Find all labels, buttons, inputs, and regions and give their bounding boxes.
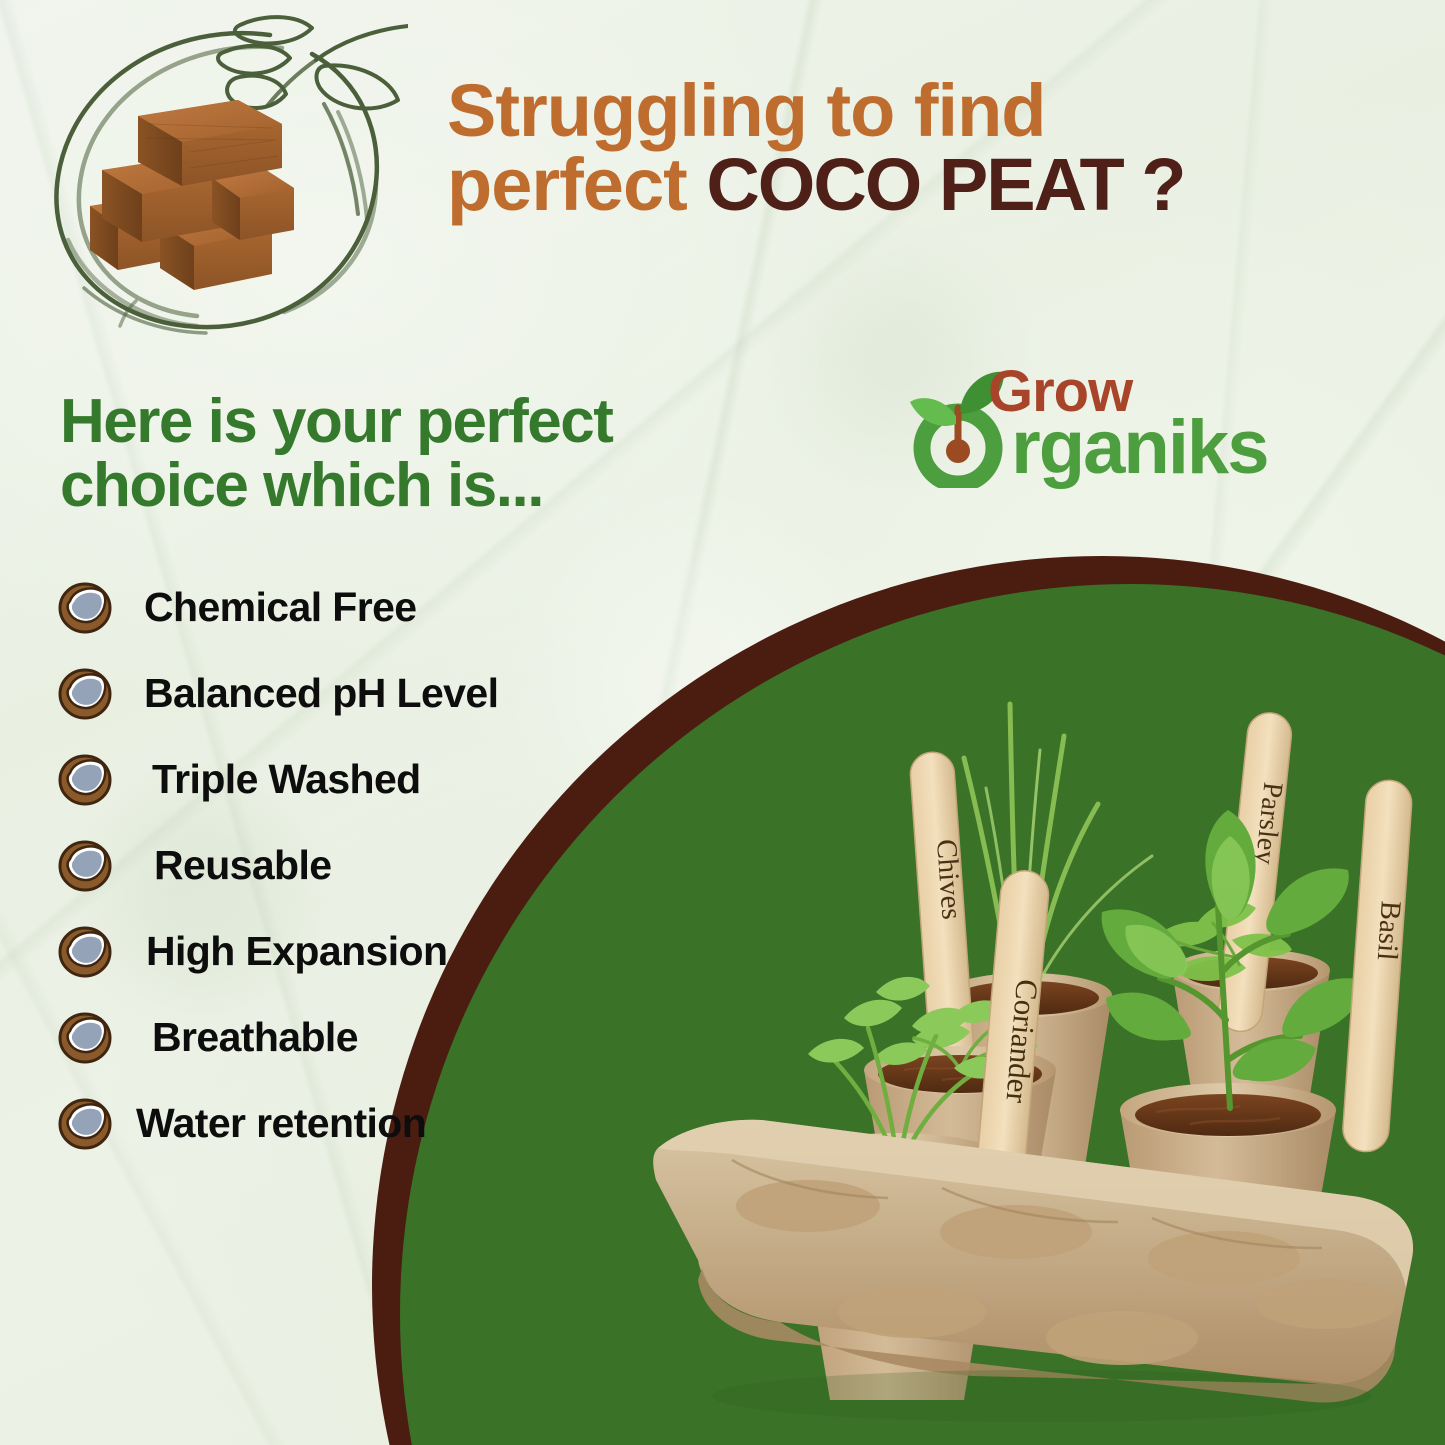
list-item: Balanced pH Level xyxy=(56,652,616,734)
coconut-icon xyxy=(56,751,114,807)
coconut-icon xyxy=(56,923,114,979)
subheadline-line-2: choice which is... xyxy=(60,454,820,518)
list-item: High Expansion xyxy=(56,910,616,992)
list-item: Water retention xyxy=(56,1082,616,1164)
poster-canvas: Struggling to find perfect COCO PEAT ? H… xyxy=(0,0,1445,1445)
subheadline-line-1: Here is your perfect xyxy=(60,390,820,454)
headline-line-2-prefix: perfect xyxy=(447,143,706,226)
benefit-label: Triple Washed xyxy=(152,756,421,803)
herb-seedling-tray-image: Chives Parsley xyxy=(612,640,1432,1430)
list-item: Triple Washed xyxy=(56,738,616,820)
coconut-icon xyxy=(56,1095,114,1151)
benefit-label: Chemical Free xyxy=(144,584,417,631)
headline-line-2-emphasis: COCO PEAT ? xyxy=(706,143,1184,226)
coconut-icon xyxy=(56,1009,114,1065)
benefits-list: Chemical Free Balanced pH Level Trip xyxy=(56,566,616,1168)
brand-word-organiks-text: rganiks xyxy=(1011,405,1267,490)
headline-line-1: Struggling to find xyxy=(447,76,1407,146)
brand-logo[interactable]: Grow Organiks xyxy=(900,352,1290,492)
list-item: Chemical Free xyxy=(56,566,616,648)
list-item: Breathable xyxy=(56,996,616,1078)
plant-label-chives: Chives xyxy=(930,838,968,921)
benefit-label: High Expansion xyxy=(146,928,447,975)
brand-word-organiks: Organiks xyxy=(954,404,1267,491)
benefit-label: Reusable xyxy=(154,842,332,889)
coconut-icon xyxy=(56,837,114,893)
list-item: Reusable xyxy=(56,824,616,906)
coconut-icon xyxy=(56,579,114,635)
benefit-label: Water retention xyxy=(136,1100,426,1147)
subheadline: Here is your perfect choice which is... xyxy=(60,390,820,518)
benefit-label: Breathable xyxy=(152,1014,358,1061)
headline-line-2: perfect COCO PEAT ? xyxy=(447,150,1407,220)
coco-peat-bricks-image xyxy=(60,78,330,298)
benefit-label: Balanced pH Level xyxy=(144,670,498,717)
headline: Struggling to find perfect COCO PEAT ? xyxy=(447,76,1407,221)
coconut-icon xyxy=(56,665,114,721)
plant-label-basil: Basil xyxy=(1371,900,1407,962)
